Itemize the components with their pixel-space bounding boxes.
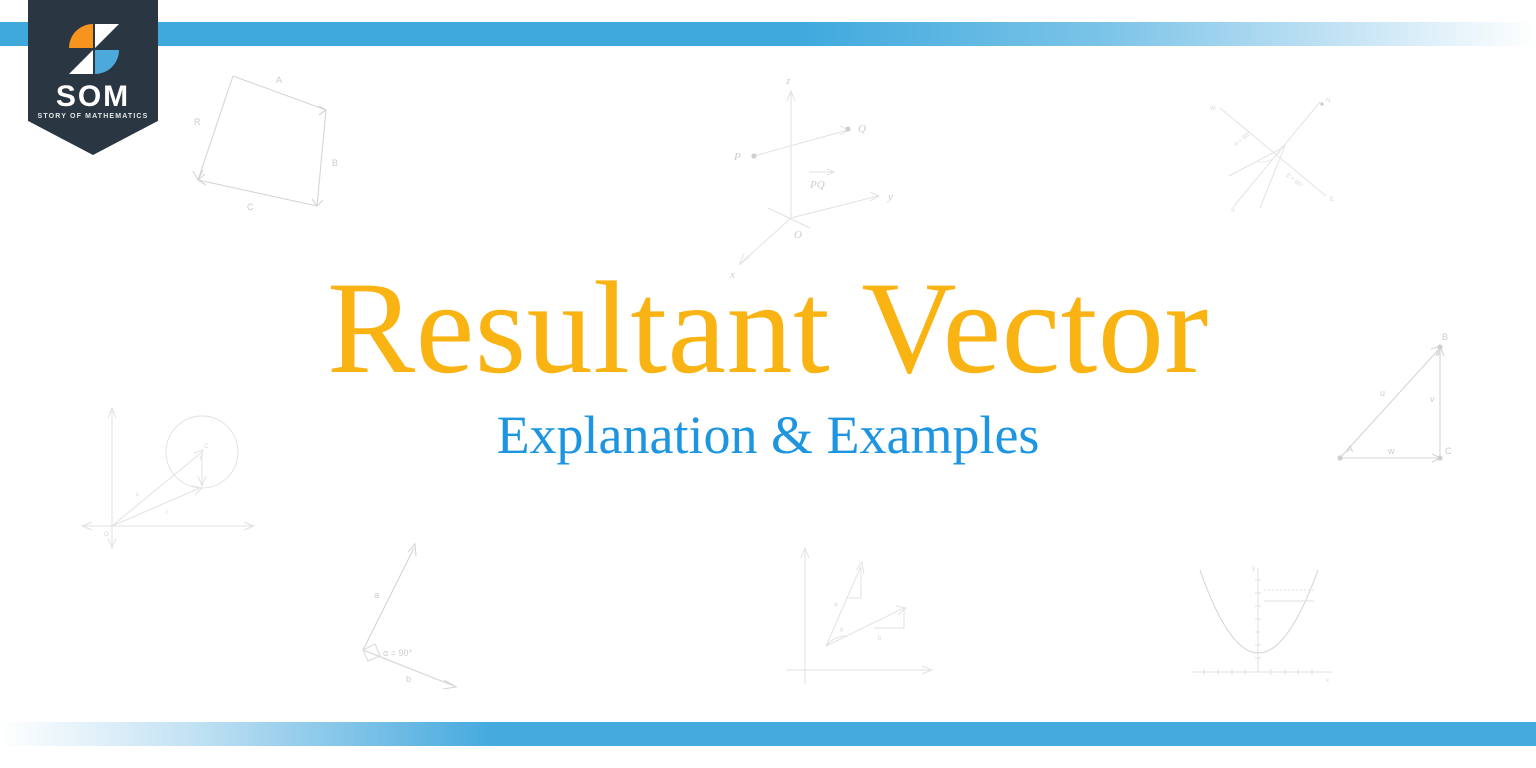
figure-label: y: [1252, 566, 1255, 572]
page-subtitle: Explanation & Examples: [0, 408, 1536, 462]
figure-label: r: [166, 510, 168, 516]
figure-coords-3d: z y x O P Q PQ: [706, 68, 916, 253]
figure-angle-label: α = 90°: [383, 648, 412, 658]
top-accent-bar: [0, 22, 1536, 46]
figure-label: x: [1326, 678, 1329, 684]
figure-label: W: [1210, 106, 1216, 112]
title-card: A B C R z y x O P Q PQ: [0, 0, 1536, 768]
figure-label: PQ: [809, 179, 825, 191]
figure-right-angle-vectors: a b α = 90°: [346, 540, 481, 690]
figure-label: b: [406, 674, 411, 684]
figure-label: θ: [840, 628, 844, 634]
figure-label: E: [1330, 197, 1334, 203]
figure-label: P: [733, 151, 741, 163]
figure-label: R: [194, 117, 201, 127]
figure-label: Q: [858, 123, 866, 135]
figure-label: a: [834, 602, 838, 608]
som-logo-mark-icon: [64, 22, 122, 76]
figure-parallelogram: A B C R: [176, 58, 366, 228]
figure-parabola: y x: [1186, 560, 1336, 695]
figure-label: c: [136, 492, 139, 498]
figure-label: S: [1231, 208, 1235, 214]
page-title: Resultant Vector: [0, 262, 1536, 394]
figure-cross-lines: N S E W α = 65° β = 60°: [1198, 88, 1348, 213]
figure-label: O: [794, 229, 802, 241]
som-logo-wordmark: SOM: [28, 82, 158, 112]
figure-label: z: [785, 75, 791, 87]
figure-vectors-theta: a b θ: [778, 544, 943, 694]
headline-block: Resultant Vector Explanation & Examples: [0, 262, 1536, 462]
figure-label: B: [332, 158, 338, 168]
figure-label: b: [878, 636, 882, 642]
figure-label: O: [104, 532, 109, 538]
figure-label: y: [887, 191, 893, 203]
som-logo: SOM STORY OF MATHEMATICS: [28, 0, 158, 155]
figure-angle-label: α = 65°: [1234, 131, 1253, 148]
figure-label: C: [247, 202, 254, 212]
figure-label: A: [276, 75, 282, 85]
figure-label: a: [374, 590, 379, 600]
bottom-accent-bar: [0, 722, 1536, 746]
som-logo-tagline: STORY OF MATHEMATICS: [28, 113, 158, 120]
figure-label: N: [1326, 98, 1330, 104]
